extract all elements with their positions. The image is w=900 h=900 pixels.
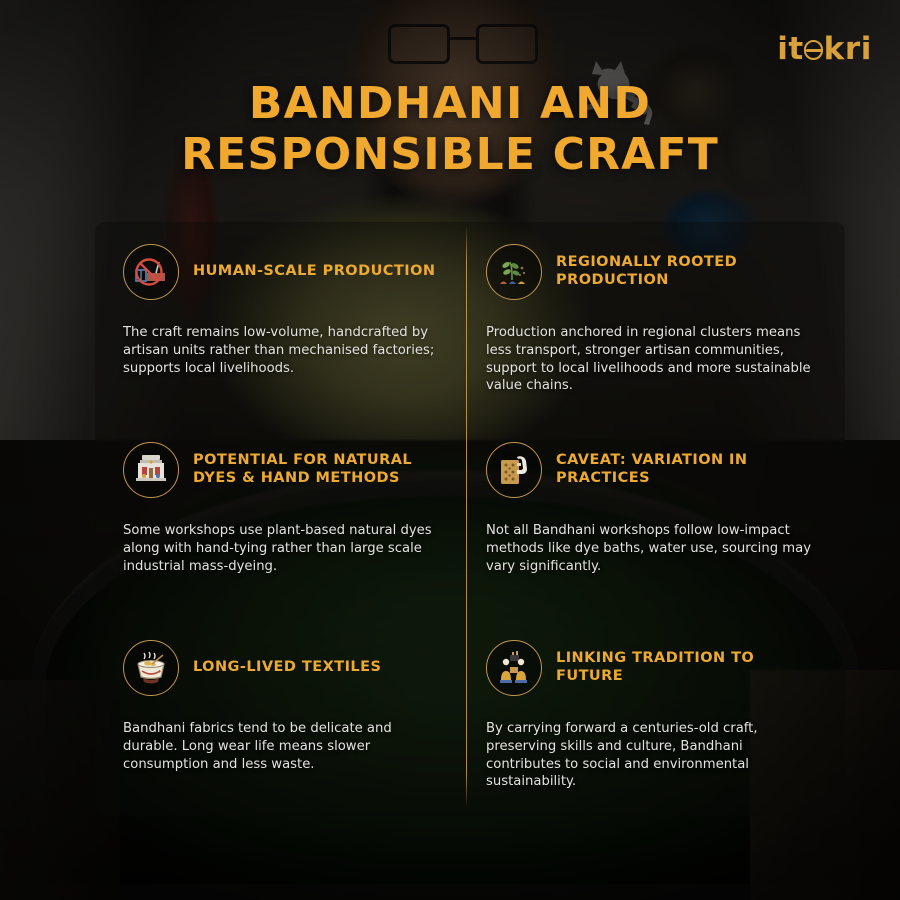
logo-text-before: it (777, 31, 804, 67)
basket-o-icon (804, 40, 823, 59)
card-title: POTENTIAL FOR NATURAL DYES & HAND METHOD… (193, 452, 440, 487)
card-body: The craft remains low-volume, handcrafte… (123, 324, 440, 377)
card-linking-tradition-to-future: LINKING TRADITION TO FUTURE By carrying … (466, 618, 845, 816)
card-body: Not all Bandhani workshops follow low-im… (486, 522, 815, 575)
card-body: Some workshops use plant-based natural d… (123, 522, 440, 575)
card-title: REGIONALLY ROOTED PRODUCTION (556, 254, 815, 289)
sprout-pigments-icon (486, 244, 542, 300)
card-body: By carrying forward a centuries-old craf… (486, 720, 815, 791)
content-panel: HUMAN-SCALE PRODUCTION The craft remains… (95, 222, 845, 816)
infographic-canvas: itkri BANDHANI AND RESPONSIBLE CRAFT (0, 0, 900, 900)
no-factory-icon (123, 244, 179, 300)
page-title: BANDHANI AND RESPONSIBLE CRAFT (0, 78, 900, 180)
hand-holding-fabric-icon (486, 442, 542, 498)
logo-text-after: kri (824, 31, 872, 67)
card-title: CAVEAT: VARIATION IN PRACTICES (556, 452, 815, 487)
card-body: Bandhani fabrics tend to be delicate and… (123, 720, 440, 773)
two-artisans-icon (486, 640, 542, 696)
steaming-dye-pot-icon (123, 640, 179, 696)
card-header: LONG-LIVED TEXTILES (123, 640, 440, 696)
card-regionally-rooted-production: REGIONALLY ROOTED PRODUCTION Production … (466, 222, 845, 420)
workshop-building-icon (123, 442, 179, 498)
itokri-logo[interactable]: itkri (777, 34, 872, 65)
card-header: HUMAN-SCALE PRODUCTION (123, 244, 440, 300)
card-long-lived-textiles: LONG-LIVED TEXTILES Bandhani fabrics ten… (95, 618, 466, 816)
card-title: HUMAN-SCALE PRODUCTION (193, 263, 435, 281)
card-human-scale-production: HUMAN-SCALE PRODUCTION The craft remains… (95, 222, 466, 420)
card-header: POTENTIAL FOR NATURAL DYES & HAND METHOD… (123, 442, 440, 498)
card-header: REGIONALLY ROOTED PRODUCTION (486, 244, 815, 300)
card-header: CAVEAT: VARIATION IN PRACTICES (486, 442, 815, 498)
card-title: LINKING TRADITION TO FUTURE (556, 650, 815, 685)
card-potential-for-natural-dyes: POTENTIAL FOR NATURAL DYES & HAND METHOD… (95, 420, 466, 618)
card-title: LONG-LIVED TEXTILES (193, 659, 381, 677)
card-header: LINKING TRADITION TO FUTURE (486, 640, 815, 696)
card-body: Production anchored in regional clusters… (486, 324, 815, 395)
card-caveat-variation-in-practices: CAVEAT: VARIATION IN PRACTICES Not all B… (466, 420, 845, 618)
cards-grid: HUMAN-SCALE PRODUCTION The craft remains… (95, 222, 845, 816)
